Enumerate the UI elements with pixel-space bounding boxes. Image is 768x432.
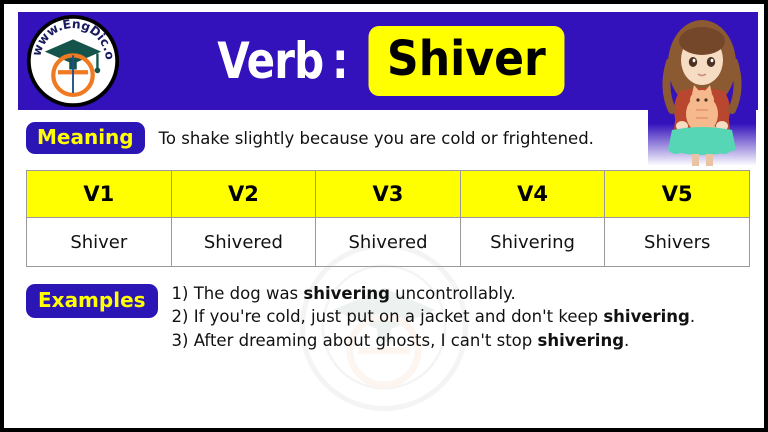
meaning-text: To shake slightly because you are cold o…: [159, 129, 594, 148]
examples-section: Examples 1) The dog was shivering uncont…: [26, 282, 742, 352]
title-area: Verb : Shiver: [130, 12, 640, 110]
column-header-v3: V3: [316, 171, 461, 218]
example-item: 2) If you're cold, just put on a jacket …: [172, 305, 742, 328]
cell-v2: Shivered: [171, 218, 316, 267]
verb-forms-table: V1 V2 V3 V4 V5 Shiver Shivered Shivered …: [26, 170, 750, 267]
meaning-badge: Meaning: [26, 122, 145, 154]
column-header-v4: V4: [460, 171, 605, 218]
example-number: 3): [172, 331, 189, 350]
example-item: 1) The dog was shivering uncontrollably.: [172, 282, 742, 305]
cell-v5: Shivers: [605, 218, 750, 267]
example-bold: shivering: [603, 307, 690, 326]
example-after: .: [690, 307, 695, 326]
example-after: uncontrollably.: [390, 284, 516, 303]
table-row: Shiver Shivered Shivered Shivering Shive…: [27, 218, 750, 267]
example-after: .: [624, 331, 629, 350]
column-header-v2: V2: [171, 171, 316, 218]
title-word: Shiver: [368, 26, 564, 96]
header-bar: www.EngDic.org Verb : Shiver: [18, 12, 758, 110]
column-header-v1: V1: [27, 171, 172, 218]
cell-v3: Shivered: [316, 218, 461, 267]
example-item: 3) After dreaming about ghosts, I can't …: [172, 329, 742, 352]
example-bold: shivering: [303, 284, 390, 303]
cell-v1: Shiver: [27, 218, 172, 267]
example-before: If you're cold, just put on a jacket and…: [188, 307, 603, 326]
meaning-row: Meaning To shake slightly because you ar…: [26, 118, 742, 158]
examples-list: 1) The dog was shivering uncontrollably.…: [172, 282, 742, 352]
example-before: After dreaming about ghosts, I can't sto…: [188, 331, 537, 350]
example-number: 1): [172, 284, 189, 303]
title-label: Verb: [218, 32, 324, 90]
column-header-v5: V5: [605, 171, 750, 218]
verb-forms-card: www.EngDic.org Verb : Shiver: [0, 0, 768, 432]
example-bold: shivering: [538, 331, 625, 350]
table-header-row: V1 V2 V3 V4 V5: [27, 171, 750, 218]
example-number: 2): [172, 307, 189, 326]
example-before: The dog was: [188, 284, 303, 303]
engdic-logo-icon: www.EngDic.org: [26, 14, 120, 108]
title-separator: :: [327, 32, 357, 90]
cell-v4: Shivering: [460, 218, 605, 267]
examples-badge: Examples: [26, 284, 158, 318]
